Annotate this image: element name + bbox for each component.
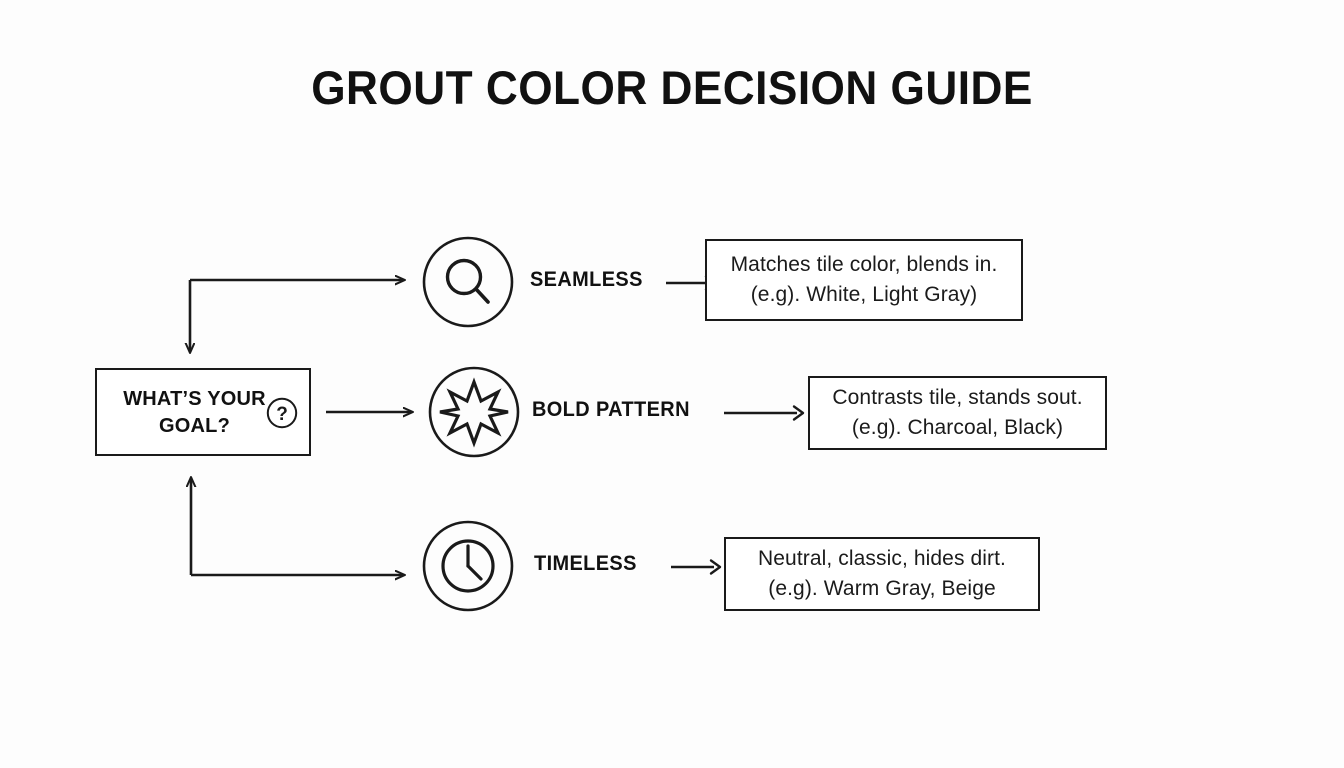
- branch-label-timeless: TIMELESS: [534, 552, 637, 576]
- arrow-right-icon: [723, 400, 808, 426]
- decision-box-label-line-1: WHAT’S YOUR: [107, 386, 282, 413]
- starburst-icon[interactable]: [428, 366, 520, 458]
- clock-icon[interactable]: [422, 520, 514, 612]
- branch-label-seamless: SEAMLESS: [530, 268, 643, 292]
- arrow-right-icon: [670, 554, 725, 580]
- outcome-line-1: Matches tile color, blends in.: [731, 250, 998, 280]
- magnifier-icon[interactable]: [422, 236, 514, 328]
- outcome-line-1: Contrasts tile, stands sout.: [832, 383, 1082, 413]
- page-title: GROUT COLOR DECISION GUIDE: [40, 60, 1303, 115]
- outcome-box-seamless: Matches tile color, blends in. (e.g). Wh…: [705, 239, 1023, 321]
- branch-label-bold-pattern: BOLD PATTERN: [532, 398, 690, 422]
- outcome-line-2: (e.g). White, Light Gray): [751, 280, 978, 310]
- outcome-box-timeless: Neutral, classic, hides dirt. (e.g). War…: [724, 537, 1040, 611]
- diagram-canvas: GROUT COLOR DECISION GUIDE WHAT’S YOUR G…: [0, 0, 1344, 768]
- decision-box[interactable]: WHAT’S YOUR GOAL? ?: [95, 368, 311, 456]
- decision-box-label: WHAT’S YOUR GOAL?: [107, 386, 282, 440]
- outcome-box-bold-pattern: Contrasts tile, stands sout. (e.g). Char…: [808, 376, 1107, 450]
- question-circle-icon[interactable]: ?: [265, 396, 299, 430]
- outcome-line-2: (e.g). Warm Gray, Beige: [768, 574, 996, 604]
- svg-text:?: ?: [276, 404, 288, 425]
- outcome-line-2: (e.g). Charcoal, Black): [852, 413, 1063, 443]
- decision-box-label-line-2: GOAL?: [107, 413, 282, 440]
- outcome-line-1: Neutral, classic, hides dirt.: [758, 544, 1006, 574]
